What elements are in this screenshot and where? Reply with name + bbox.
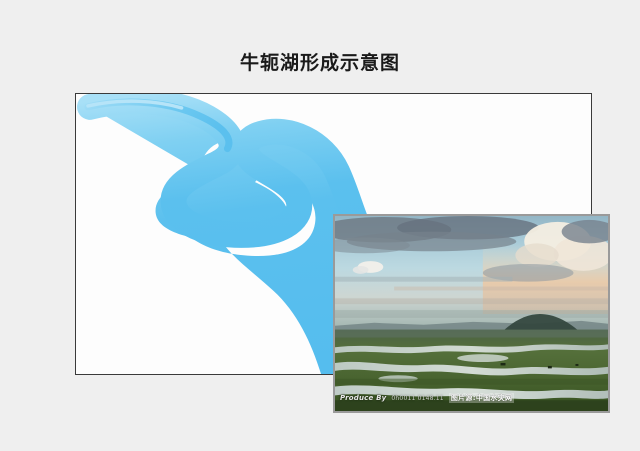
field-speck-2 <box>548 366 552 368</box>
far-bank-haze <box>335 330 608 338</box>
cloud-small-left-2 <box>353 266 369 274</box>
cloud-streak-4 <box>335 310 608 318</box>
aerial-photo-image <box>335 216 608 411</box>
cloud-bright-3 <box>515 243 558 267</box>
aerial-photo-inset[interactable]: Produce By 0h0011 0148.11 图片源:中国水灾网 <box>333 214 610 413</box>
cloud-streak-2 <box>394 287 608 291</box>
oxbow-lake-loop <box>457 354 508 362</box>
foreground-grass-band <box>335 400 608 411</box>
slide-root: 牛轭湖形成示意图 <box>0 0 640 451</box>
grass-band-mid <box>335 379 608 385</box>
cloud-streak-1 <box>335 277 512 282</box>
page-title: 牛轭湖形成示意图 <box>0 50 640 76</box>
cloud-streak-3 <box>335 298 608 304</box>
field-speck-3 <box>575 364 578 366</box>
field-speck-1 <box>501 363 506 365</box>
